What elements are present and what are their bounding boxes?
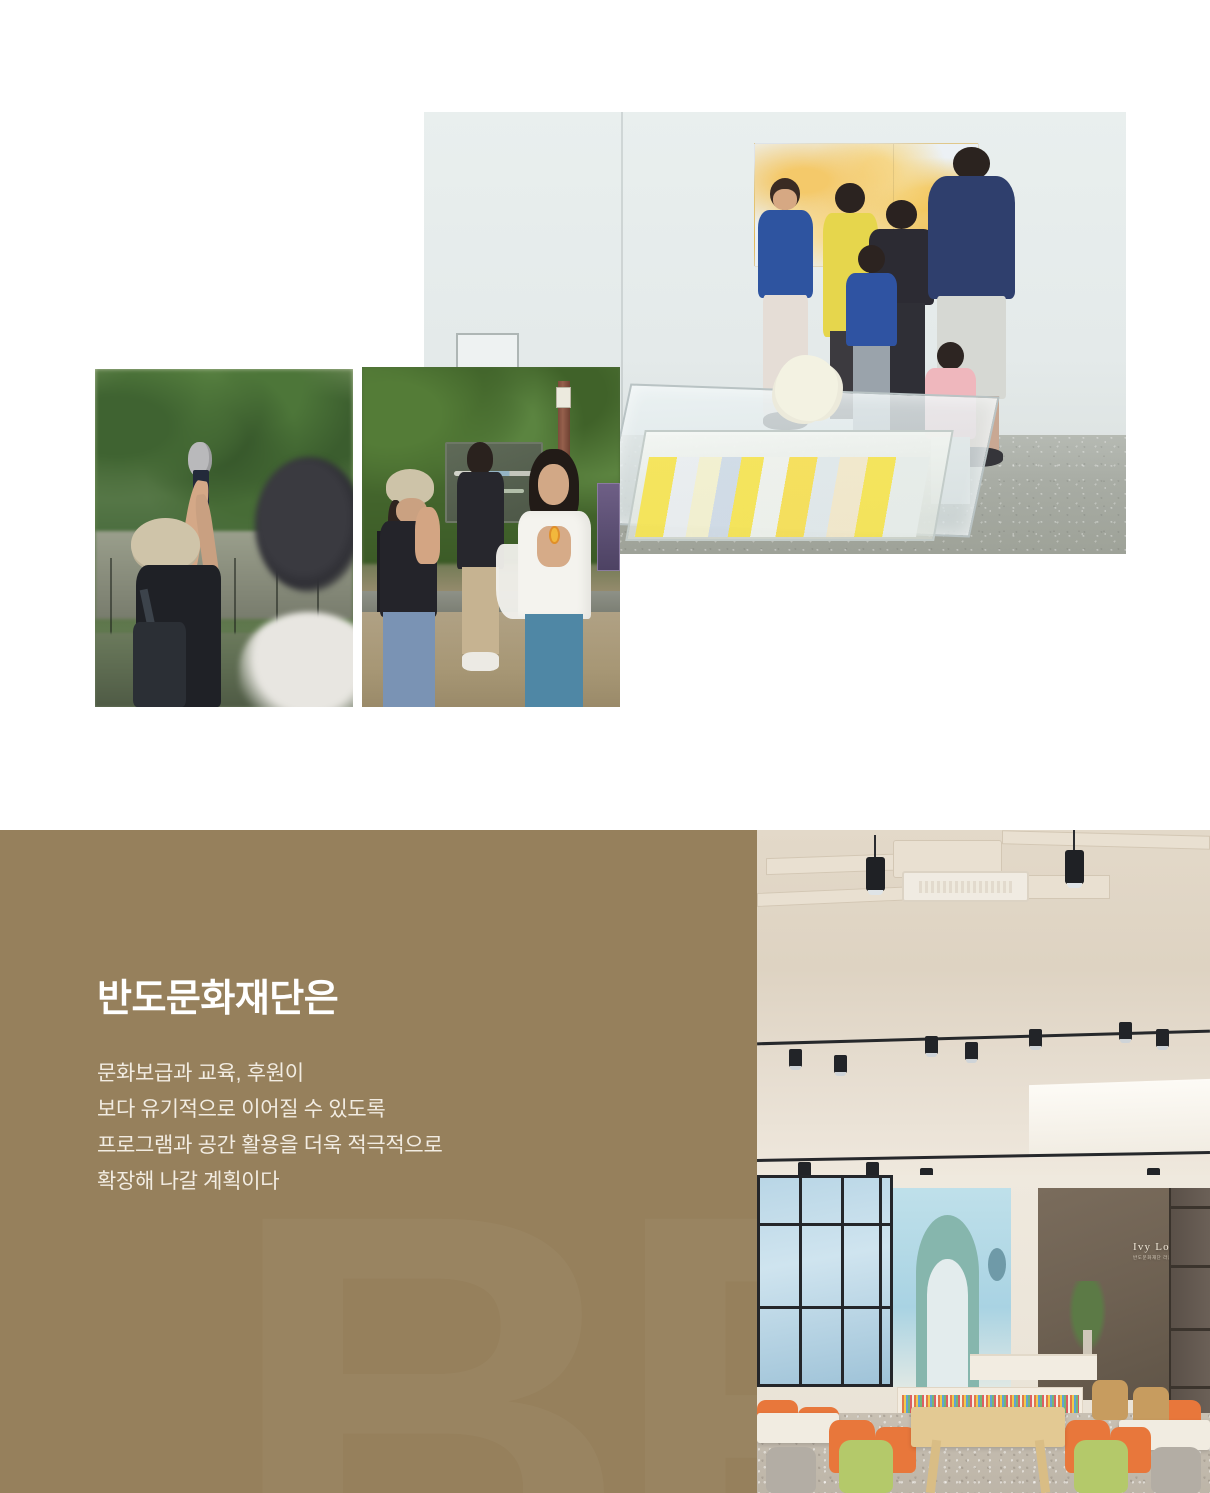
visitor-head (937, 342, 964, 370)
outdoor-side-panel (597, 483, 620, 571)
statement-line-1: 문화보급과 교육, 후원이 (97, 1056, 657, 1092)
foreground-blurred-head (255, 457, 353, 592)
visitor-head (835, 183, 865, 214)
gray-chair (766, 1447, 816, 1493)
spotlight-icon (834, 1055, 847, 1073)
page-root: 전시실에서 유리 진열장의 건축 모형을 관람하는 가족 관람객들 (0, 0, 1210, 1493)
statement-body: 문화보급과 교육, 후원이 보다 유기적으로 이어질 수 있도록 프로그램과 공… (97, 1056, 657, 1200)
statement-line-3: 프로그램과 공간 활용을 더욱 적극적으로 (97, 1128, 657, 1164)
spotlight-icon (925, 1036, 938, 1054)
spotlight-icon (1029, 1029, 1042, 1047)
person-jeans (383, 612, 435, 707)
foundation-statement-section: BR 반도문화재단은 문화보급과 교육, 후원이 보다 유기적으로 이어질 수 … (0, 830, 1210, 1493)
visitor-shirt (928, 176, 1016, 299)
gallery-wall-edge (621, 112, 623, 448)
statement-copy-block: 반도문화재단은 문화보급과 교육, 후원이 보다 유기적으로 이어질 수 있도록… (97, 978, 657, 1200)
photo-ivy-lounge[interactable]: Ivy Lounge 반도문화재단 라운지 (757, 830, 1210, 1493)
visitor-shirt (846, 273, 897, 346)
wall-shelving-unit (1169, 1188, 1210, 1413)
person-pants (462, 567, 499, 655)
spotlight-icon (789, 1049, 802, 1067)
person-trousers (525, 614, 584, 707)
side-table (757, 1413, 839, 1443)
green-chair (839, 1440, 893, 1493)
person-head (467, 442, 493, 474)
spotlight-icon (965, 1042, 978, 1060)
ceiling-skylight (1029, 1079, 1210, 1158)
porthole-window (988, 1248, 1006, 1281)
gray-chair (1151, 1447, 1201, 1493)
potted-plant (1065, 1281, 1110, 1361)
visitor-face (773, 189, 797, 210)
photo-collage-section: 전시실에서 유리 진열장의 건축 모형을 관람하는 가족 관람객들 (0, 0, 1210, 830)
person-backpack (133, 622, 185, 707)
person-face (538, 464, 569, 505)
visitor-shirt (758, 210, 814, 298)
pendant-lamp (866, 857, 885, 891)
outdoor-person-right (517, 449, 594, 707)
bucket-hat (131, 518, 200, 570)
ceiling-air-conditioner (902, 871, 1029, 902)
spotlight-icon (1119, 1022, 1132, 1040)
trail-post-sign (556, 387, 571, 407)
photo-field-recording[interactable]: 야외 숲길에서 휴대용 레코더로 현장 소리를 녹음하는 참가자 (95, 369, 353, 707)
ceiling-duct (1002, 831, 1210, 850)
visitor-head (886, 200, 917, 228)
outdoor-person-left (377, 469, 449, 707)
statement-line-4: 확장해 나갈 계획이다 (97, 1164, 657, 1200)
person-hands (415, 507, 440, 564)
visitor-head (953, 147, 990, 179)
spotlight-icon (1156, 1029, 1169, 1047)
photo-outdoor-program[interactable]: 야외 탐방 프로그램에 참여해 웃으며 이야기하는 참가자들 (362, 367, 620, 707)
wooden-chair (1092, 1380, 1128, 1420)
gallery-model-blocks (635, 457, 930, 537)
page-title: 반도문화재단은 (97, 978, 657, 1022)
glass-partition-room (757, 1175, 893, 1387)
service-counter (970, 1354, 1097, 1381)
pendant-lamp (1065, 850, 1084, 884)
gallery-sculpture (775, 355, 838, 421)
field-recordist (131, 470, 250, 707)
green-chair (1074, 1440, 1128, 1493)
visitor-head (858, 245, 885, 273)
statement-line-2: 보다 유기적으로 이어질 수 있도록 (97, 1092, 657, 1128)
person-shoes (462, 652, 499, 670)
